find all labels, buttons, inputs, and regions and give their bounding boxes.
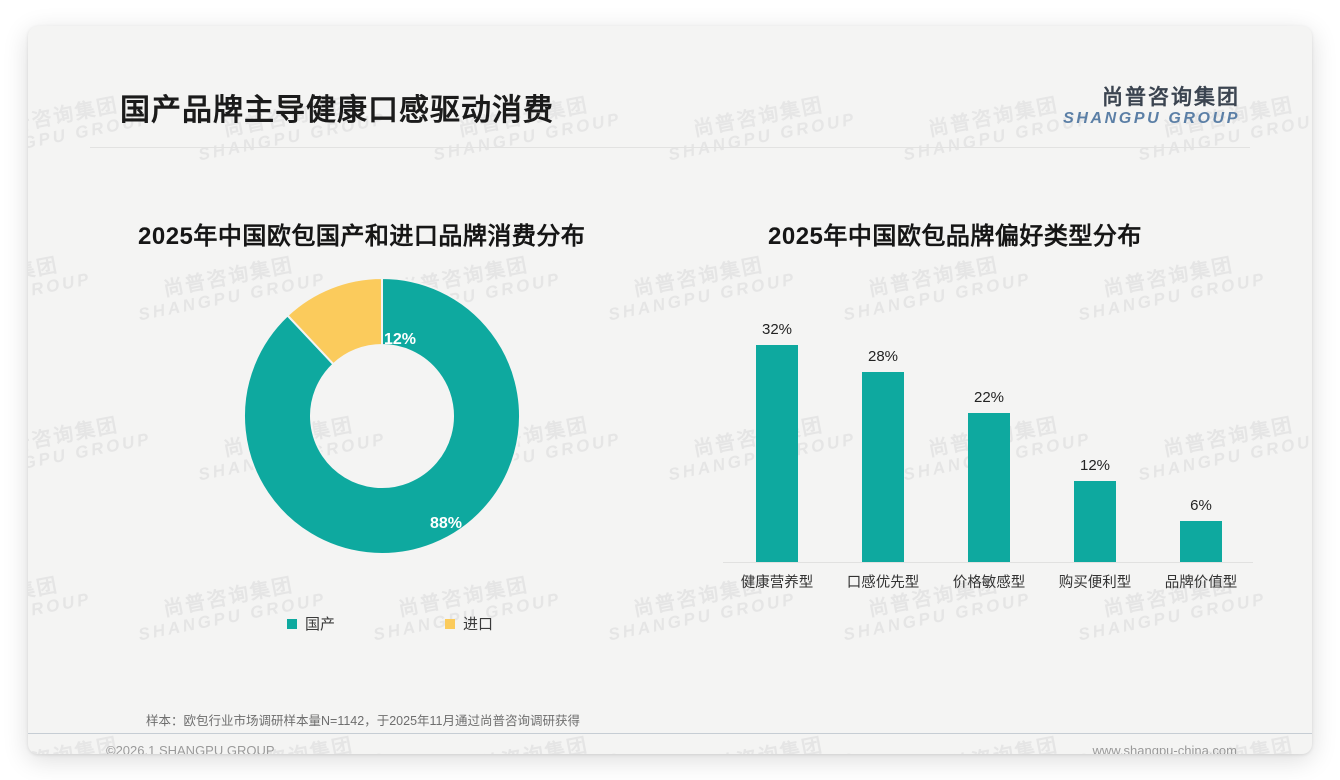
bar-column[interactable] — [939, 413, 1039, 562]
bar-column[interactable] — [727, 345, 827, 562]
legend-item-domestic[interactable]: 国产 — [287, 613, 335, 634]
bar-category-label: 口感优先型 — [833, 571, 933, 592]
donut-chart-svg — [242, 276, 522, 556]
bar-chart-panel: 2025年中国欧包品牌偏好类型分布 32%健康营养型28%口感优先型22%价格敏… — [708, 148, 1253, 678]
bar-value-label: 28% — [833, 348, 933, 365]
legend-item-imported[interactable]: 进口 — [445, 613, 493, 634]
slide-canvas: 尚普咨询集团SHANGPU GROUP尚普咨询集团SHANGPU GROUP尚普… — [28, 26, 1312, 754]
slide-footer: ©2026.1 SHANGPU GROUP www.shangpu-china.… — [28, 734, 1312, 754]
bar-column[interactable] — [1151, 521, 1251, 562]
bar-category-label: 品牌价值型 — [1151, 571, 1251, 592]
slide-header: 国产品牌主导健康口感驱动消费 尚普咨询集团 SHANGPU GROUP — [28, 26, 1312, 148]
footer-website[interactable]: www.shangpu-china.com — [1092, 743, 1237, 754]
donut-chart-title: 2025年中国欧包国产和进口品牌消费分布 — [138, 216, 585, 251]
donut-legend: 国产 进口 — [200, 613, 580, 634]
bar-category-label: 价格敏感型 — [939, 571, 1039, 592]
legend-label-imported: 进口 — [463, 613, 493, 634]
donut-chart-panel: 2025年中国欧包国产和进口品牌消费分布 88% 12% 国产 进口 — [90, 148, 680, 678]
bar-chart-title: 2025年中国欧包品牌偏好类型分布 — [768, 216, 1142, 251]
bar-rect[interactable] — [968, 413, 1010, 562]
brand-logo: 尚普咨询集团 SHANGPU GROUP — [1063, 86, 1240, 127]
brand-name-en: SHANGPU GROUP — [1063, 110, 1240, 128]
bar-rect[interactable] — [862, 372, 904, 562]
legend-label-domestic: 国产 — [305, 613, 335, 634]
footer-copyright: ©2026.1 SHANGPU GROUP — [106, 743, 275, 754]
bar-category-label: 健康营养型 — [727, 571, 827, 592]
page-title: 国产品牌主导健康口感驱动消费 — [120, 96, 554, 126]
bar-rect[interactable] — [756, 345, 798, 562]
bar-column[interactable] — [833, 372, 933, 562]
donut-chart: 88% 12% — [242, 276, 522, 556]
brand-name-cn: 尚普咨询集团 — [1063, 86, 1240, 110]
donut-slice-label-domestic: 88% — [430, 515, 462, 533]
bar-rect[interactable] — [1074, 481, 1116, 562]
bar-rect[interactable] — [1180, 521, 1222, 562]
legend-swatch-yellow-icon — [445, 619, 455, 629]
bar-value-label: 12% — [1045, 457, 1145, 474]
bar-value-label: 32% — [727, 321, 827, 338]
bar-chart: 32%健康营养型28%口感优先型22%价格敏感型12%购买便利型6%品牌价值型 — [723, 288, 1253, 563]
donut-slice-label-imported: 12% — [384, 331, 416, 349]
header-divider — [90, 147, 1250, 148]
slide-body: 2025年中国欧包国产和进口品牌消费分布 88% 12% 国产 进口 — [28, 148, 1312, 678]
bar-category-label: 购买便利型 — [1045, 571, 1145, 592]
sample-footnote: 样本：欧包行业市场调研样本量N=1142，于2025年11月通过尚普咨询调研获得 — [146, 710, 580, 729]
bar-value-label: 22% — [939, 389, 1039, 406]
legend-swatch-teal-icon — [287, 619, 297, 629]
bar-chart-axis-line — [723, 562, 1253, 563]
bar-column[interactable] — [1045, 481, 1145, 562]
bar-value-label: 6% — [1151, 497, 1251, 514]
